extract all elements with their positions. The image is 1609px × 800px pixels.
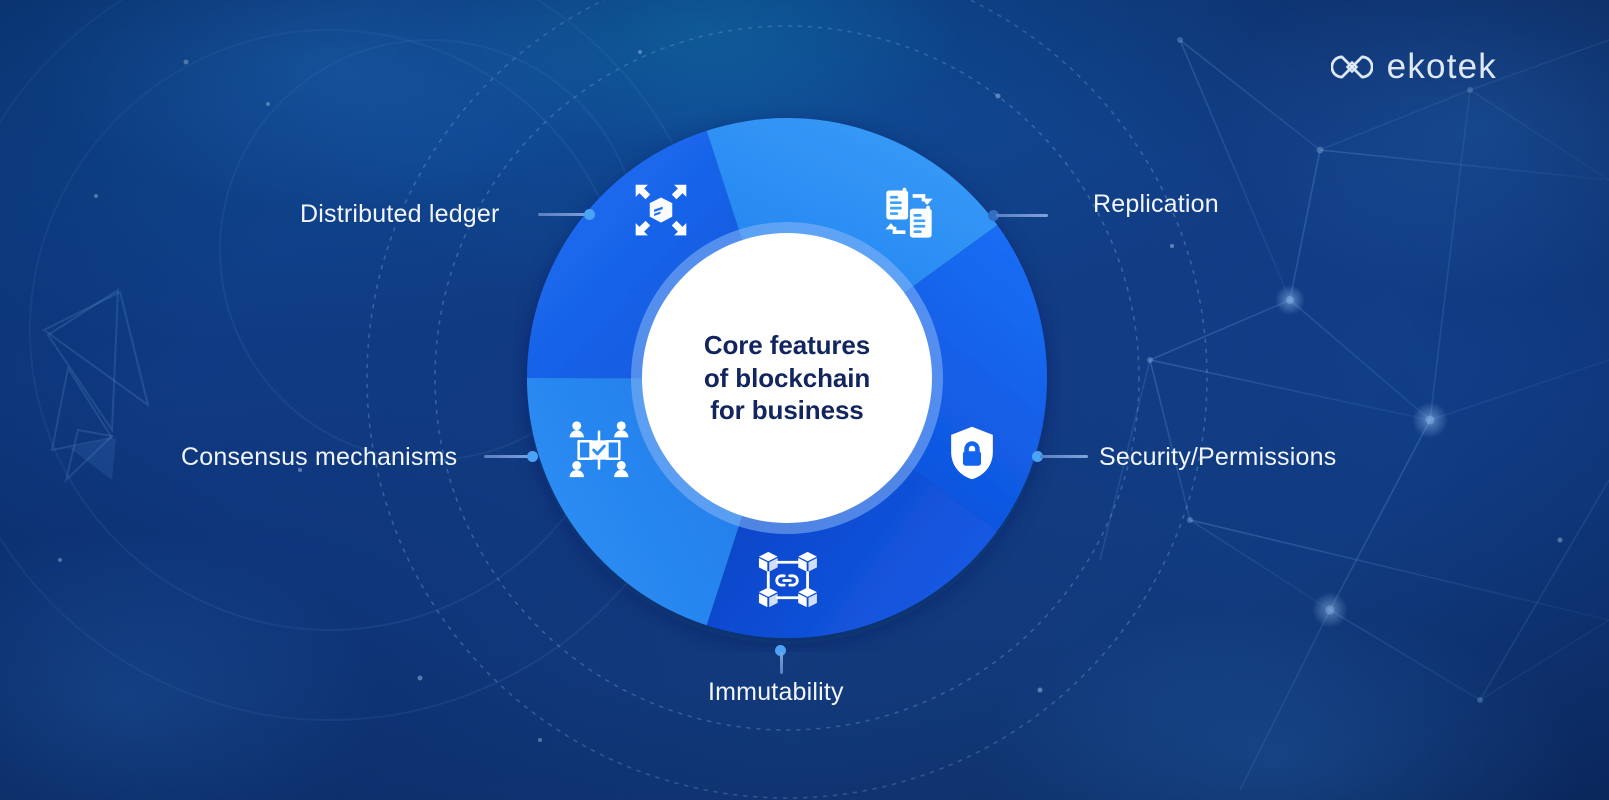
infographic-canvas: ekotek <box>0 0 1609 800</box>
shield-lock-icon <box>940 421 1004 485</box>
people-consensus-check-icon <box>567 418 631 482</box>
label-consensus-mechanisms[interactable]: Consensus mechanisms <box>181 443 457 472</box>
hub-circle: Core features of blockchain for business <box>642 233 932 523</box>
brand-logo[interactable]: ekotek <box>1331 46 1497 88</box>
ekotek-infinity-diamond-icon <box>1331 46 1373 88</box>
label-immutability[interactable]: Immutability <box>708 678 844 707</box>
distributed-cube-arrows-icon <box>629 178 693 242</box>
documents-sync-icon <box>877 182 941 246</box>
label-distributed-ledger[interactable]: Distributed ledger <box>300 200 500 229</box>
label-replication[interactable]: Replication <box>1093 190 1219 219</box>
donut-chart: Core features of blockchain for business <box>513 104 1061 652</box>
hub-title: Core features of blockchain for business <box>704 329 870 427</box>
label-security-permissions[interactable]: Security/Permissions <box>1099 443 1336 472</box>
brand-name: ekotek <box>1387 47 1497 87</box>
linked-blocks-chain-icon <box>755 548 819 612</box>
